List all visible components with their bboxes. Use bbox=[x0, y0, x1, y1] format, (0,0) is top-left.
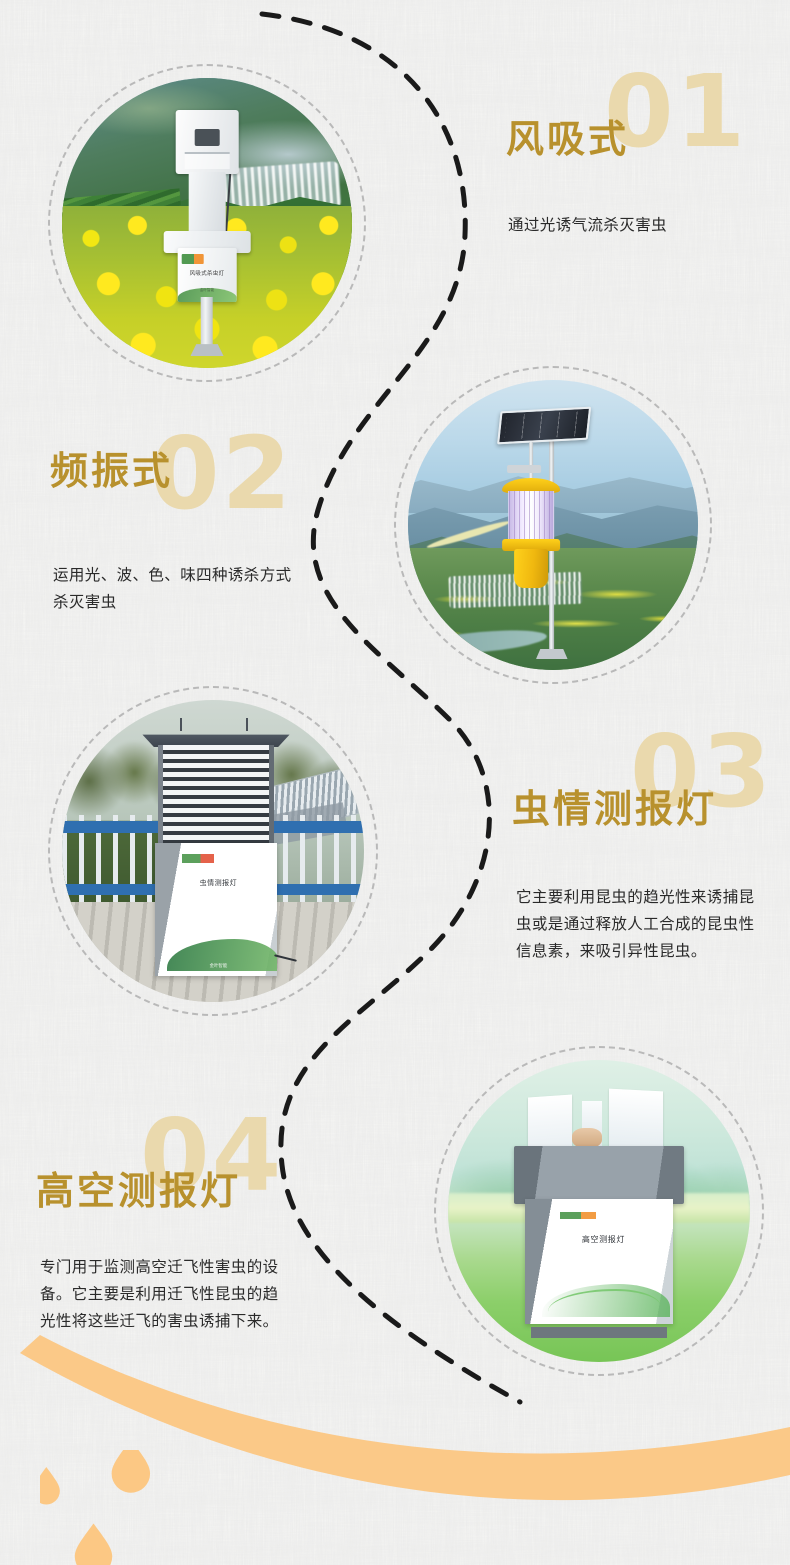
section-desc-01: 通过光诱气流杀灭害虫 bbox=[508, 212, 790, 239]
section-desc-03: 它主要利用昆虫的趋光性来诱捕昆虫或是通过释放人工合成的昆虫性信息素，来吸引异性昆… bbox=[516, 884, 766, 965]
section-title-02: 频振式 bbox=[50, 452, 173, 494]
infographic-poster: 风吸式杀虫灯 金叶智能 bbox=[0, 0, 790, 1565]
wind-suction-insect-lamp-photo: 风吸式杀虫灯 金叶智能 bbox=[62, 78, 352, 368]
section-title-01: 风吸式 bbox=[506, 120, 629, 162]
device-label: 高空测报灯 bbox=[548, 1234, 658, 1245]
device-label: 虫情测报灯 bbox=[172, 878, 265, 888]
solar-panel-icon bbox=[497, 407, 591, 445]
section-desc-block-03: 它主要利用昆虫的趋光性来诱捕昆虫或是通过释放人工合成的昆虫性信息素，来吸引异性昆… bbox=[516, 884, 766, 965]
device-frequency-vibration-lamp bbox=[492, 409, 614, 664]
insect-situation-forecast-lamp-photo: 虫情测报灯 金叶智能 bbox=[62, 700, 364, 1002]
section-block-04: 高空测报灯 bbox=[36, 1172, 241, 1214]
section-block-03: 虫情测报灯 bbox=[512, 790, 717, 832]
section-desc-block-02: 运用光、波、色、味四种诱杀方式杀灭害虫 bbox=[53, 562, 293, 616]
device-wind-suction-lamp: 风吸式杀虫灯 金叶智能 bbox=[158, 110, 257, 357]
brand-logo-icon bbox=[560, 1212, 596, 1220]
section-desc-block-01: 通过光诱气流杀灭害虫 bbox=[508, 212, 790, 239]
device-sublabel: 金叶智能 bbox=[177, 288, 236, 293]
device-sublabel: 金叶智能 bbox=[182, 963, 255, 969]
section-desc-04: 专门用于监测高空迁飞性害虫的设备。它主要是利用迁飞性昆虫的趋光性将这些迁飞的害虫… bbox=[40, 1254, 290, 1335]
frequency-vibration-solar-lamp-photo bbox=[408, 380, 698, 670]
teardrop-decorations bbox=[40, 1450, 200, 1565]
device-label: 风吸式杀虫灯 bbox=[177, 269, 236, 277]
section-block-02: 频振式 bbox=[50, 452, 173, 494]
section-desc-02: 运用光、波、色、味四种诱杀方式杀灭害虫 bbox=[53, 562, 293, 616]
section-title-04: 高空测报灯 bbox=[36, 1172, 241, 1214]
brand-logo-icon bbox=[182, 254, 203, 264]
section-desc-block-04: 专门用于监测高空迁飞性害虫的设备。它主要是利用迁飞性昆虫的趋光性将这些迁飞的害虫… bbox=[40, 1254, 290, 1335]
section-title-03: 虫情测报灯 bbox=[512, 790, 717, 832]
section-block-01: 风吸式 bbox=[506, 120, 629, 162]
high-altitude-forecast-lamp-photo: 高空测报灯 bbox=[448, 1060, 750, 1362]
device-insect-forecast-lamp: 虫情测报灯 金叶智能 bbox=[153, 718, 280, 984]
device-high-altitude-lamp: 高空测报灯 bbox=[514, 1114, 683, 1337]
brand-logo-icon bbox=[182, 854, 214, 863]
